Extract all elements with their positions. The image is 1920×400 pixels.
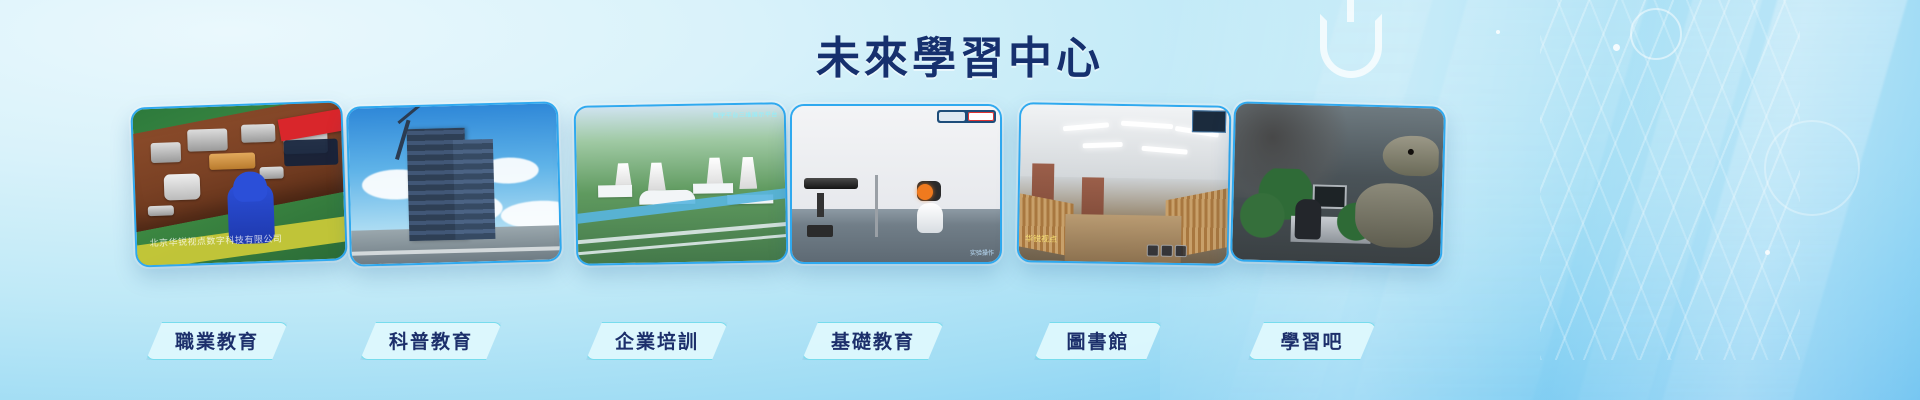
label-science-popularization[interactable]: 科普教育 [360,322,502,360]
key-hint [1147,244,1159,256]
card-hud-panel [284,139,339,167]
card-learning-bar[interactable] [1230,101,1446,266]
card-carousel: 北京华锐视点数字科技有限公司 [0,104,1920,284]
key-hint [1175,245,1187,257]
card-library[interactable]: 华锐视点 [1017,102,1232,266]
card-thumbnail-enterprise-training: 数字平台三维展示平台 [576,104,787,264]
card-science-popularization[interactable] [346,101,562,266]
card-thumbnail-basic-education: 实验操作 [792,106,1000,262]
label-enterprise-training[interactable]: 企業培訓 [586,322,728,360]
card-tag: 实验操作 [970,248,994,257]
card-thumbnail-learning-bar [1232,103,1444,264]
card-key-hints [1147,244,1187,257]
future-learning-center-banner: 未來學習中心 北京华锐视点数字科技有限公司 [0,0,1920,400]
card-basic-education[interactable]: 实验操作 [790,104,1002,264]
card-watermark: 华锐视点 [1025,233,1057,245]
background-crane-hook-stem [1347,0,1354,22]
card-enterprise-training[interactable]: 数字平台三维展示平台 [574,102,789,266]
robot-lens-icon [917,184,933,200]
card-thumbnail-vocational: 北京华锐视点数字科技有限公司 [132,102,345,265]
card-vocational[interactable]: 北京华锐视点数字科技有限公司 [130,100,347,267]
label-library[interactable]: 圖書館 [1034,322,1162,360]
record-data-button[interactable] [939,112,965,121]
page-title: 未來學習中心 [0,22,1920,86]
card-minimap [1192,110,1226,133]
label-basic-education[interactable]: 基礎教育 [802,322,944,360]
end-operation-button[interactable] [968,112,994,121]
key-hint [1161,245,1173,257]
label-learning-bar[interactable]: 學習吧 [1248,322,1376,360]
card-button-bar[interactable] [937,110,996,123]
card-thumbnail-library: 华锐视点 [1019,104,1230,264]
card-label-row: 職業教育 科普教育 企業培訓 基礎教育 圖書館 學習吧 [0,322,1920,382]
card-thumbnail-science-popularization [348,103,560,264]
label-vocational[interactable]: 職業教育 [146,322,288,360]
card-overlay-label: 数字平台三维展示平台 [713,109,778,119]
